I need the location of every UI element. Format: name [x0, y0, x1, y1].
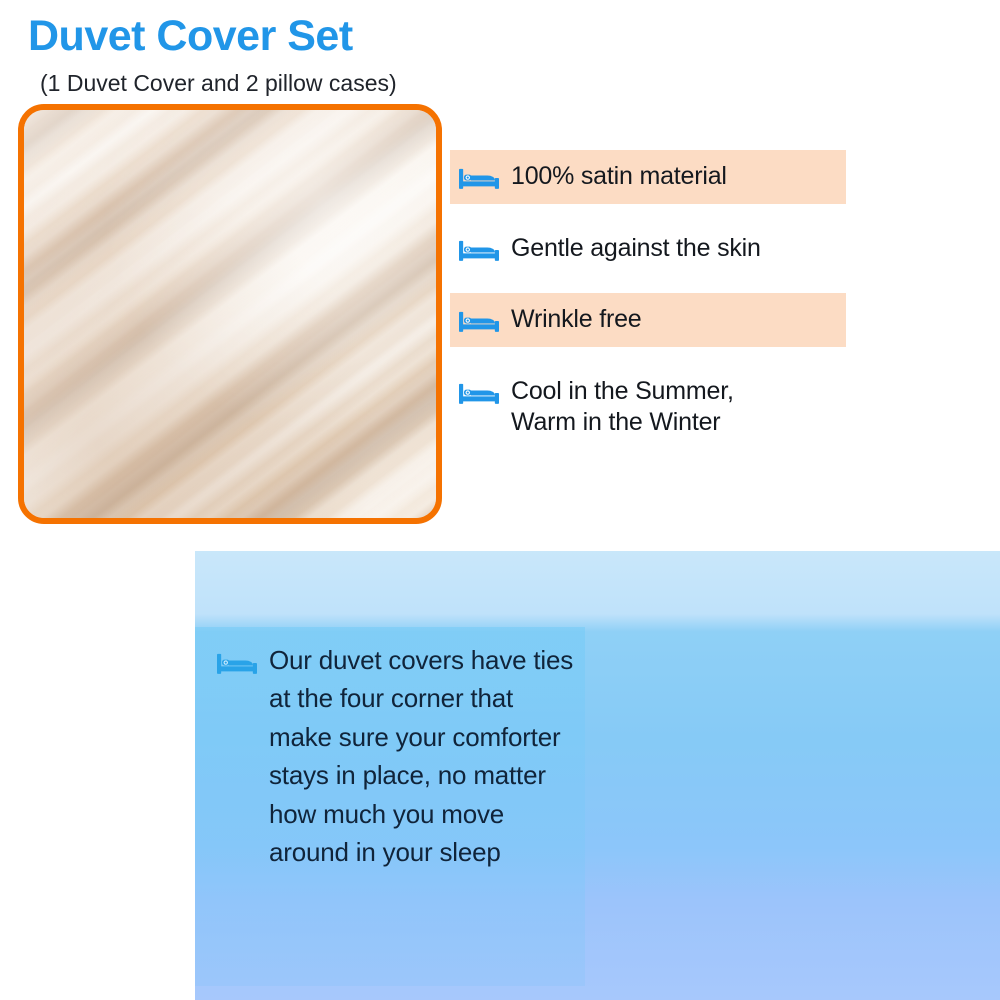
feature-item-satin-material: 100% satin material — [450, 150, 846, 204]
bed-icon — [459, 308, 499, 334]
feature-item-cool-summer-warm-winter: Cool in the Summer, Warm in the Winter — [450, 365, 846, 450]
page-subtitle: (1 Duvet Cover and 2 pillow cases) — [40, 70, 397, 97]
satin-sheen-overlay — [24, 110, 436, 518]
feature-label: 100% satin material — [511, 161, 727, 193]
bottom-feature-item: Our duvet covers have ties at the four c… — [217, 641, 587, 872]
feature-label: Wrinkle free — [511, 304, 642, 336]
infographic-canvas: Duvet Cover Set (1 Duvet Cover and 2 pil… — [0, 0, 1000, 1000]
feature-label: Cool in the Summer, Warm in the Winter — [511, 376, 734, 439]
row-spacer — [450, 275, 846, 293]
bed-icon — [459, 237, 499, 263]
bed-icon — [459, 165, 499, 191]
bed-icon — [459, 380, 499, 406]
bottom-panel-description: Our duvet covers have ties at the four c… — [269, 641, 574, 872]
feature-item-wrinkle-free: Wrinkle free — [450, 293, 846, 347]
page-title: Duvet Cover Set — [28, 14, 353, 59]
satin-fabric-photo — [18, 104, 442, 524]
feature-item-gentle-skin: Gentle against the skin — [450, 222, 846, 276]
row-spacer — [450, 347, 846, 365]
bottom-panel: Our duvet covers have ties at the four c… — [195, 551, 1000, 1000]
feature-list: 100% satin material Gentle again — [450, 150, 846, 450]
row-spacer — [450, 204, 846, 222]
bed-icon — [217, 650, 257, 676]
feature-label: Gentle against the skin — [511, 233, 761, 265]
